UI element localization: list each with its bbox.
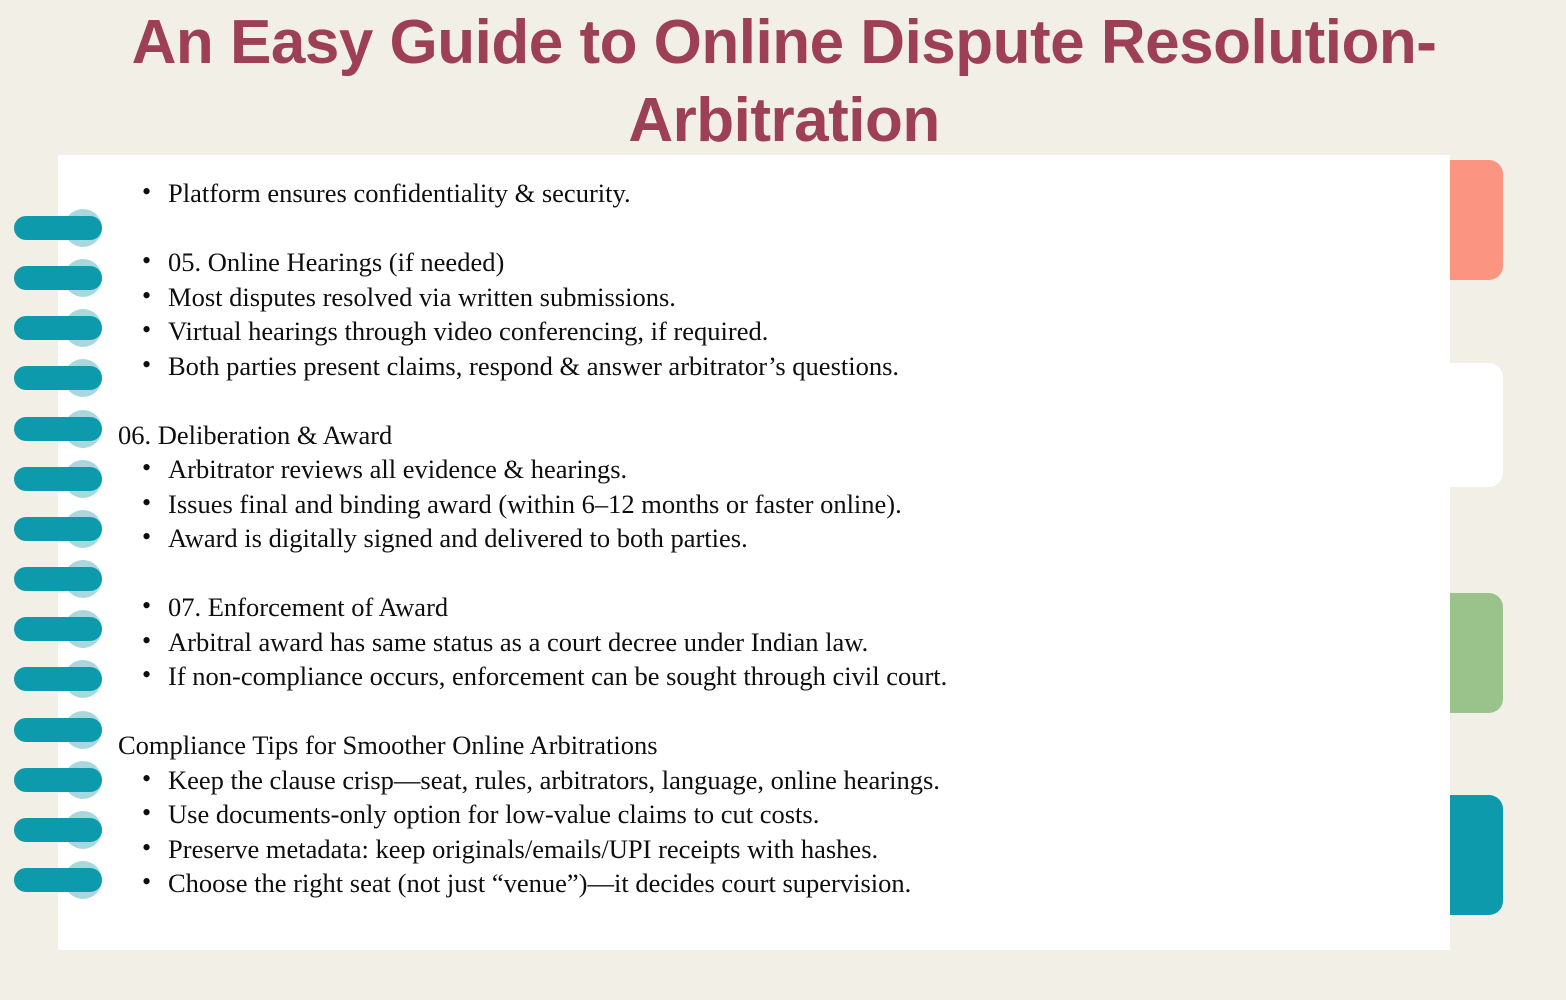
spiral-ring-bar-icon [14, 617, 102, 641]
spiral-ring [14, 718, 102, 742]
spiral-ring-bar-icon [14, 818, 102, 842]
bullet-list-item: Most disputes resolved via written submi… [118, 280, 1408, 315]
spiral-ring [14, 417, 102, 441]
spiral-ring-bar-icon [14, 868, 102, 892]
spiral-ring-bar-icon [14, 667, 102, 691]
section-heading-line: 06. Deliberation & Award [118, 418, 1408, 453]
bullet-list-item: Award is digitally signed and delivered … [118, 521, 1408, 556]
spiral-ring-bar-icon [14, 768, 102, 792]
notes-body: Platform ensures confidentiality & secur… [118, 176, 1408, 901]
bullet-list-item: Choose the right seat (not just “venue”)… [118, 866, 1408, 901]
spiral-ring [14, 768, 102, 792]
page-title: An Easy Guide to Online Dispute Resoluti… [60, 4, 1508, 160]
page-title-text: An Easy Guide to Online Dispute Resoluti… [60, 4, 1508, 160]
spiral-ring [14, 617, 102, 641]
bullet-list-item: 07. Enforcement of Award [118, 590, 1408, 625]
spiral-ring-bar-icon [14, 316, 102, 340]
bullet-list-item: 05. Online Hearings (if needed) [118, 245, 1408, 280]
paragraph-spacer [118, 383, 1408, 418]
bullet-list-item: Issues final and binding award (within 6… [118, 487, 1408, 522]
paragraph-spacer [118, 694, 1408, 729]
spiral-ring [14, 818, 102, 842]
spiral-ring-bar-icon [14, 517, 102, 541]
bullet-list-item: Preserve metadata: keep originals/emails… [118, 832, 1408, 867]
spiral-ring-bar-icon [14, 266, 102, 290]
bullet-list-item: If non-compliance occurs, enforcement ca… [118, 659, 1408, 694]
bullet-list-item: Arbitral award has same status as a cour… [118, 625, 1408, 660]
section-heading-line: Compliance Tips for Smoother Online Arbi… [118, 728, 1408, 763]
spiral-ring [14, 216, 102, 240]
spiral-ring [14, 366, 102, 390]
spiral-ring [14, 316, 102, 340]
spiral-ring [14, 266, 102, 290]
spiral-ring-bar-icon [14, 567, 102, 591]
paragraph-spacer [118, 556, 1408, 591]
bullet-list-item: Virtual hearings through video conferenc… [118, 314, 1408, 349]
spiral-ring [14, 667, 102, 691]
spiral-ring-bar-icon [14, 417, 102, 441]
spiral-ring [14, 517, 102, 541]
bullet-list-item: Keep the clause crisp—seat, rules, arbit… [118, 763, 1408, 798]
spiral-ring-bar-icon [14, 718, 102, 742]
spiral-ring [14, 467, 102, 491]
spiral-ring-bar-icon [14, 467, 102, 491]
bullet-list-item: Both parties present claims, respond & a… [118, 349, 1408, 384]
bullet-list-item: Arbitrator reviews all evidence & hearin… [118, 452, 1408, 487]
bullet-list-item: Use documents-only option for low-value … [118, 797, 1408, 832]
spiral-ring [14, 868, 102, 892]
paragraph-spacer [118, 211, 1408, 246]
spiral-ring-bar-icon [14, 216, 102, 240]
spiral-ring [14, 567, 102, 591]
spiral-ring-bar-icon [14, 366, 102, 390]
bullet-list-item: Platform ensures confidentiality & secur… [118, 176, 1408, 211]
